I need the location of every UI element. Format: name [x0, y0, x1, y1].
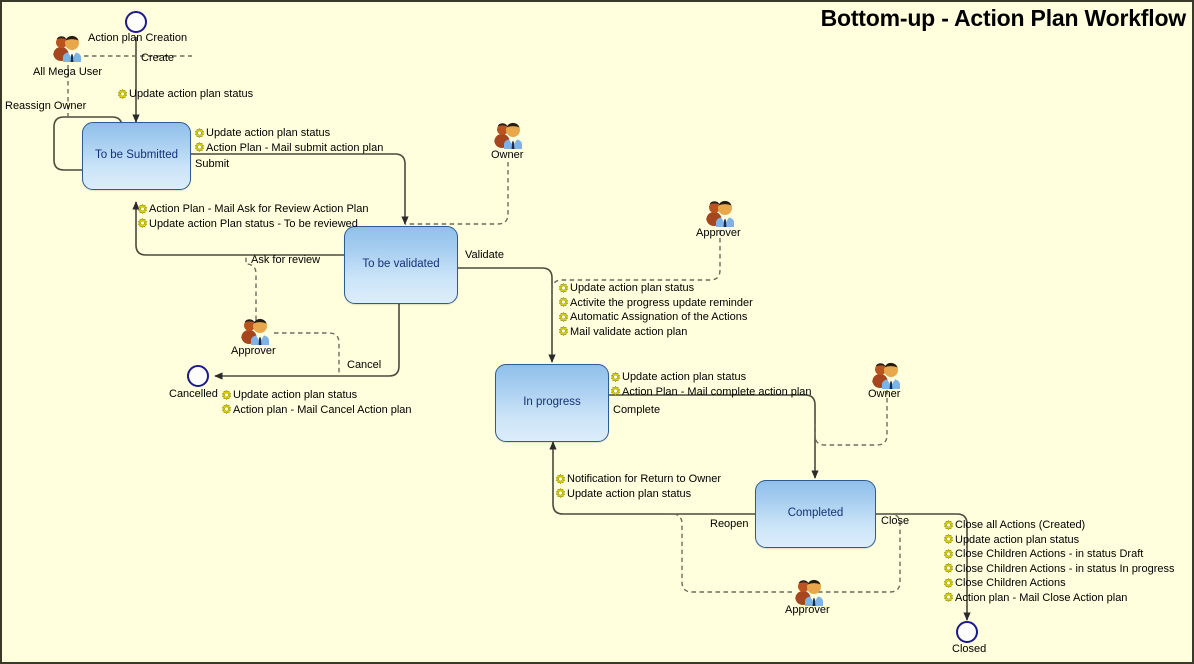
- gear-icon: [610, 372, 621, 383]
- action-label: Action plan - Mail Cancel Action plan: [233, 403, 412, 418]
- action-item: Update action plan status: [610, 370, 812, 385]
- actor-approver-cancel-label: Approver: [231, 345, 276, 357]
- users-icon: [51, 33, 85, 63]
- end-node-closed[interactable]: [956, 621, 978, 643]
- action-label: Update action plan status: [955, 533, 1079, 548]
- state-label: In progress: [523, 396, 581, 409]
- state-to-be-validated[interactable]: To be validated: [344, 226, 458, 304]
- action-item: Close Children Actions: [943, 576, 1175, 591]
- actor-approver-cancel[interactable]: [239, 316, 273, 346]
- gear-icon: [194, 142, 205, 153]
- actor-all-mega-user[interactable]: [51, 33, 85, 63]
- transition-label-complete: Complete: [613, 404, 660, 416]
- action-label: Update action plan status: [570, 281, 694, 296]
- actor-owner-complete[interactable]: [870, 360, 904, 390]
- state-label: To be validated: [362, 258, 439, 271]
- page-title: Bottom-up - Action Plan Workflow: [821, 5, 1186, 32]
- action-label: Update action plan status: [206, 126, 330, 141]
- end-node-cancelled[interactable]: [187, 365, 209, 387]
- gear-icon: [943, 578, 954, 589]
- users-icon: [492, 120, 526, 150]
- users-icon: [239, 316, 273, 346]
- action-label: Notification for Return to Owner: [567, 472, 721, 487]
- users-icon: [704, 198, 738, 228]
- action-list-validate: Update action plan status Activite the p…: [558, 281, 753, 339]
- state-completed[interactable]: Completed: [755, 480, 876, 548]
- action-list-close: Close all Actions (Created) Update actio…: [943, 518, 1175, 605]
- state-label: To be Submitted: [95, 149, 178, 162]
- action-item: Automatic Assignation of the Actions: [558, 310, 753, 325]
- action-item: Close Children Actions - in status Draft: [943, 547, 1175, 562]
- workflow-diagram-canvas: Bottom-up - Action Plan Workflow To be S…: [0, 0, 1194, 664]
- transition-label-ask-for-review: Ask for review: [251, 254, 320, 266]
- action-list-cancel: Update action plan status Action plan - …: [221, 388, 412, 417]
- transition-label-cancel: Cancel: [347, 359, 381, 371]
- transition-label-validate: Validate: [465, 249, 504, 261]
- action-item: Action Plan - Mail complete action plan: [610, 385, 812, 400]
- gear-icon: [943, 592, 954, 603]
- action-label: Update action plan status: [129, 87, 253, 102]
- action-label: Close all Actions (Created): [955, 518, 1085, 533]
- action-label: Action Plan - Mail complete action plan: [622, 385, 812, 400]
- action-label: Close Children Actions: [955, 576, 1066, 591]
- action-list-reopen: Notification for Return to Owner Update …: [555, 472, 721, 501]
- action-item: Update action plan status: [117, 87, 253, 102]
- users-icon: [793, 577, 827, 607]
- gear-icon: [558, 297, 569, 308]
- action-item: Update action plan status: [558, 281, 753, 296]
- gear-icon: [555, 488, 566, 499]
- action-item: Update action plan status: [221, 388, 412, 403]
- actor-owner-complete-label: Owner: [868, 388, 900, 400]
- action-item: Notification for Return to Owner: [555, 472, 721, 487]
- action-item: Activite the progress update reminder: [558, 296, 753, 311]
- users-icon: [870, 360, 904, 390]
- transition-label-create: Create: [141, 52, 174, 64]
- end-node-closed-label: Closed: [952, 643, 986, 655]
- transition-label-submit: Submit: [195, 158, 229, 170]
- gear-icon: [943, 549, 954, 560]
- state-in-progress[interactable]: In progress: [495, 364, 609, 442]
- action-item: Action Plan - Mail Ask for Review Action…: [137, 202, 368, 217]
- action-item: Update action plan status: [943, 533, 1175, 548]
- action-item: Update action plan status: [194, 126, 383, 141]
- transition-label-reopen: Reopen: [710, 518, 749, 530]
- action-label: Action plan - Mail Close Action plan: [955, 591, 1127, 606]
- action-label: Mail validate action plan: [570, 325, 687, 340]
- action-label: Update action plan status: [622, 370, 746, 385]
- transition-label-action-plan-creation: Action plan Creation: [88, 32, 187, 44]
- action-item: Update action Plan status - To be review…: [137, 217, 368, 232]
- gear-icon: [137, 204, 148, 215]
- gear-icon: [610, 386, 621, 397]
- action-label: Action Plan - Mail submit action plan: [206, 141, 383, 156]
- gear-icon: [943, 534, 954, 545]
- end-node-cancelled-label: Cancelled: [169, 388, 218, 400]
- assoc-approver-cancel: [274, 333, 339, 376]
- transition-label-close: Close: [881, 515, 909, 527]
- actor-approver-validate[interactable]: [704, 198, 738, 228]
- action-item: Mail validate action plan: [558, 325, 753, 340]
- action-label: Activite the progress update reminder: [570, 296, 753, 311]
- action-label: Update action Plan status - To be review…: [149, 217, 358, 232]
- action-item: Action plan - Mail Cancel Action plan: [221, 403, 412, 418]
- action-item: Action plan - Mail Close Action plan: [943, 591, 1175, 606]
- gear-icon: [943, 563, 954, 574]
- action-label: Close Children Actions - in status Draft: [955, 547, 1143, 562]
- state-to-be-submitted[interactable]: To be Submitted: [82, 122, 191, 190]
- actor-owner-submit-label: Owner: [491, 149, 523, 161]
- gear-icon: [194, 128, 205, 139]
- transition-label-reassign-owner: Reassign Owner: [5, 100, 86, 112]
- action-item: Close all Actions (Created): [943, 518, 1175, 533]
- actor-approver-validate-label: Approver: [696, 227, 741, 239]
- gear-icon: [558, 326, 569, 337]
- action-item: Close Children Actions - in status In pr…: [943, 562, 1175, 577]
- action-list-submit: Update action plan status Action Plan - …: [194, 126, 383, 155]
- actor-approver-reopen[interactable]: [793, 577, 827, 607]
- gear-icon: [558, 283, 569, 294]
- action-list-complete: Update action plan status Action Plan - …: [610, 370, 812, 399]
- actor-owner-submit[interactable]: [492, 120, 526, 150]
- action-list-create: Update action plan status: [117, 87, 253, 102]
- actor-all-mega-user-label: All Mega User: [33, 66, 102, 78]
- action-list-ask-for-review: Action Plan - Mail Ask for Review Action…: [137, 202, 368, 231]
- action-label: Automatic Assignation of the Actions: [570, 310, 747, 325]
- action-item: Action Plan - Mail submit action plan: [194, 141, 383, 156]
- gear-icon: [555, 474, 566, 485]
- edge-validate: [458, 268, 552, 362]
- gear-icon: [943, 520, 954, 531]
- action-label: Action Plan - Mail Ask for Review Action…: [149, 202, 368, 217]
- gear-icon: [221, 390, 232, 401]
- actor-approver-reopen-label: Approver: [785, 604, 830, 616]
- action-label: Close Children Actions - in status In pr…: [955, 562, 1175, 577]
- gear-icon: [137, 218, 148, 229]
- assoc-owner-submit: [405, 162, 508, 224]
- state-label: Completed: [788, 507, 844, 520]
- action-label: Update action plan status: [233, 388, 357, 403]
- gear-icon: [117, 89, 128, 100]
- start-node[interactable]: [125, 11, 147, 33]
- gear-icon: [558, 312, 569, 323]
- action-label: Update action plan status: [567, 487, 691, 502]
- action-item: Update action plan status: [555, 487, 721, 502]
- gear-icon: [221, 404, 232, 415]
